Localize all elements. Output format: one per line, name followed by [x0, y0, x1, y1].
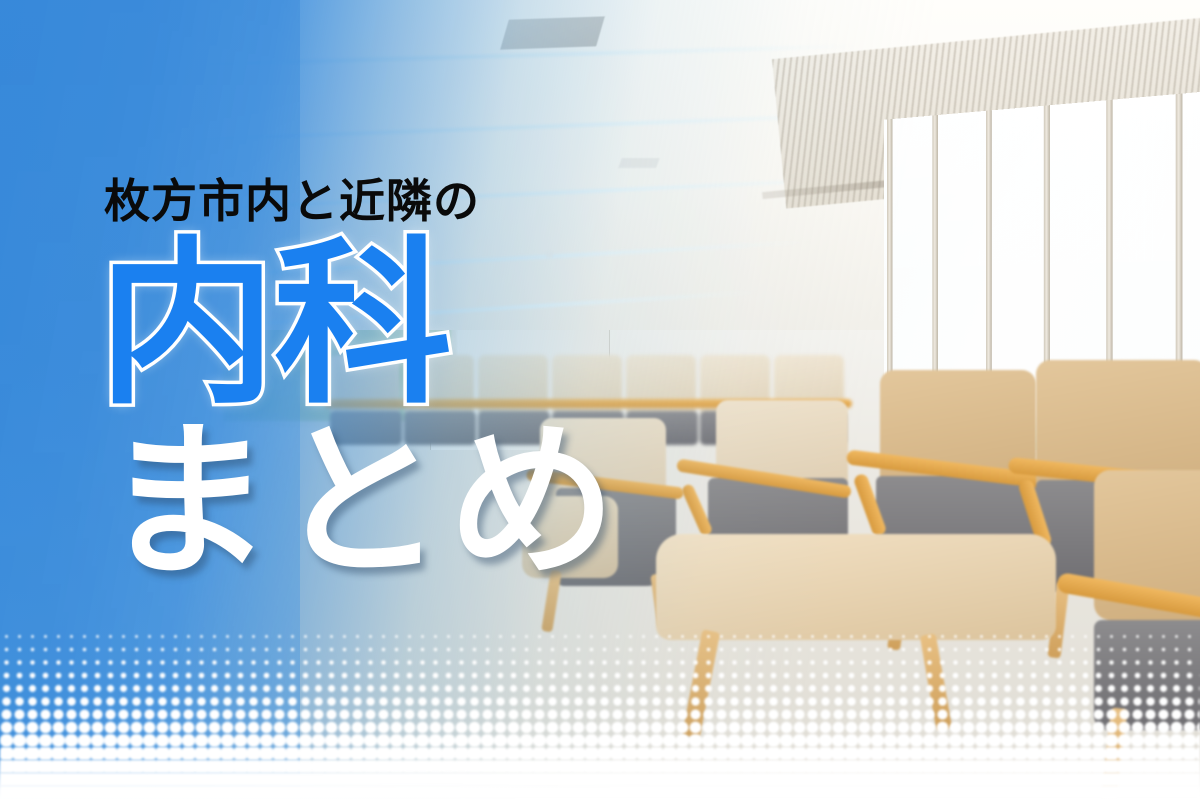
banner-subline: まとめ [104, 418, 620, 586]
banner-kicker: 枚方市内と近隣の [104, 178, 480, 224]
hero-banner: 枚方市内と近隣の 内科 まとめ [0, 0, 1200, 800]
banner-headline: 内科 [98, 236, 450, 414]
banner-text-block: 枚方市内と近隣の 内科 まとめ [0, 0, 1200, 800]
